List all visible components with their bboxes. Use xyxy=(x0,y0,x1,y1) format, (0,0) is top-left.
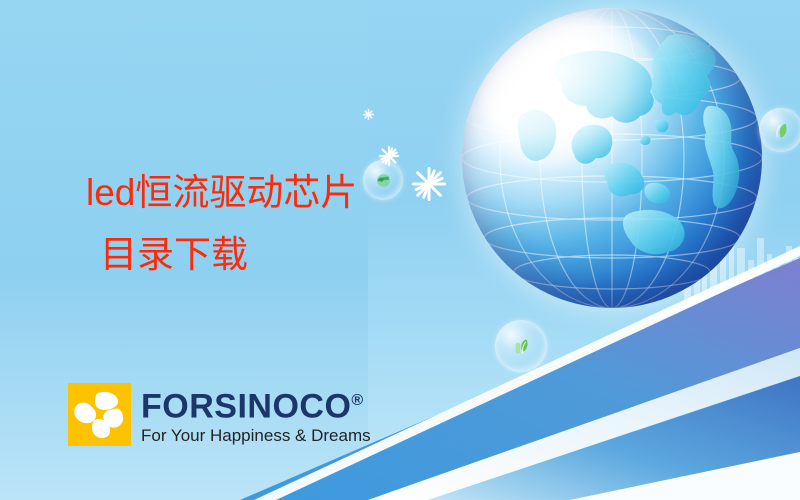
bubble-globe xyxy=(363,160,403,200)
brand-name: FORSINOCO xyxy=(141,387,351,425)
starburst-icon xyxy=(412,167,446,201)
brand-wordmark: FORSINOCO® xyxy=(141,384,371,423)
promo-banner: led恒流驱动芯片 目录下载 FORSINOCO® For Your Happi… xyxy=(0,0,800,500)
mini-globe-icon xyxy=(375,172,392,189)
registered-trademark-symbol: ® xyxy=(351,392,363,409)
starburst-icon xyxy=(362,108,375,121)
pinwheel-icon xyxy=(68,383,131,446)
leaf-icon xyxy=(770,119,792,141)
plant-leaf-icon xyxy=(508,333,534,359)
headline-line-1: led恒流驱动芯片 xyxy=(86,172,357,213)
brand-logo-text: FORSINOCO® For Your Happiness & Dreams xyxy=(141,383,371,447)
brand-tagline: For Your Happiness & Dreams xyxy=(141,425,371,447)
forsinoco-pinwheel-logomark xyxy=(68,383,131,446)
bubble-plant xyxy=(495,320,547,372)
brand-logo[interactable]: FORSINOCO® For Your Happiness & Dreams xyxy=(68,383,371,447)
page-title: led恒流驱动芯片 目录下载 xyxy=(86,162,357,286)
headline-line-2: 目录下载 xyxy=(86,224,357,286)
bubble-leaf xyxy=(759,108,800,152)
